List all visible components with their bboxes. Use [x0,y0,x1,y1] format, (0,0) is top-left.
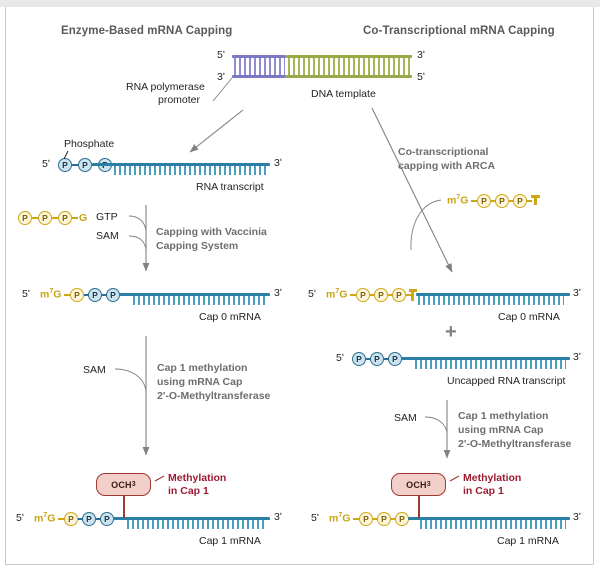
sam-reagent-label-step1: SAM [96,230,119,242]
right-arca-m7g-label: m7G [447,194,468,207]
right-uncapped-phosphate-1: P [352,352,366,366]
left-step2-label-line2: using mRNA Cap [157,376,242,390]
right-methylation-label-line2: in Cap 1 [463,485,504,498]
gtp-base-g: G [79,212,87,224]
dna-template-rungs [288,58,410,75]
left-cap0-caption: Cap 0 mRNA [199,311,261,323]
dna-template-label: DNA template [311,88,376,100]
left-cap0-phosphate-3: P [106,288,120,302]
right-arca-phosphate-2: P [495,194,509,208]
left-cap1-three-prime: 3ʹ [274,511,282,523]
right-uncapped-five-prime: 5ʹ [336,352,344,364]
dna-three-prime-bottom: 3ʹ [217,71,225,83]
gtp-phosphate-3: P [58,211,72,225]
gtp-phosphate-1: P [18,211,32,225]
right-cap0-terminus-stem-icon [411,289,414,301]
left-rna-phosphate-2: P [78,158,92,172]
gtp-reagent-label: GTP [96,211,118,223]
dna-five-prime-top: 5ʹ [217,49,225,61]
figure-canvas: Enzyme-Based mRNA Capping Co-Transcripti… [0,0,600,572]
right-cap1-three-prime: 3ʹ [573,511,581,523]
right-cap0-three-prime: 3ʹ [573,287,581,299]
right-cap0-phosphate-2: P [374,288,388,302]
right-cap1-five-prime: 5ʹ [311,512,319,524]
right-arca-label-line1: Co-transcriptional [398,146,488,160]
left-cap0-phosphate-1: P [70,288,84,302]
right-cap0-m7g-label: m7G [326,288,347,301]
right-cap1-caption: Cap 1 mRNA [497,535,559,547]
right-arca-phosphate-1: P [477,194,491,208]
right-methylation-label-line1: Methylation [463,472,521,485]
left-cap0-five-prime: 5ʹ [22,288,30,300]
left-cap1-five-prime: 5ʹ [16,512,24,524]
left-cap1-phosphate-2: P [82,512,96,526]
left-rna-transcript-caption: RNA transcript [196,181,264,193]
left-och3-badge: OCH3 [96,473,151,496]
right-uncapped-phosphate-3: P [388,352,402,366]
left-cap0-phosphate-2: P [88,288,102,302]
left-cap0-three-prime: 3ʹ [274,287,282,299]
left-cap0-m7g-label: m7G [40,288,61,301]
left-step1-label-line1: Capping with Vaccinia [156,226,267,240]
left-methylation-label-line1: Methylation [168,472,226,485]
dna-five-prime-bottom: 5ʹ [417,71,425,83]
right-cap0-caption: Cap 0 mRNA [498,311,560,323]
column-title-right: Co-Transcriptional mRNA Capping [363,25,555,37]
right-step2-label-line2: using mRNA Cap [458,424,543,438]
left-step2-label-line1: Cap 1 methylation [157,362,247,376]
right-och3-stem [418,495,420,518]
left-och3-stem [123,495,125,518]
column-title-left: Enzyme-Based mRNA Capping [61,25,232,37]
left-step2-sam-label: SAM [83,364,106,376]
left-methylation-label-line2: in Cap 1 [168,485,209,498]
left-rna-five-prime: 5ʹ [42,158,50,170]
right-cap0-phosphate-3: P [392,288,406,302]
right-cap1-phosphate-2: P [377,512,391,526]
left-rna-phosphate-1: P [58,158,72,172]
left-step1-label-line2: Capping System [156,240,238,254]
top-band [0,0,600,7]
rna-polymerase-promoter-label-line2: promoter [158,94,200,106]
left-step2-label-line3: 2ʹ-O-Methyltransferase [157,390,270,404]
right-uncapped-caption: Uncapped RNA transcript [447,375,565,387]
right-step2-label-line1: Cap 1 methylation [458,410,548,424]
left-cap1-phosphate-3: P [100,512,114,526]
right-uncapped-phosphate-2: P [370,352,384,366]
dna-promoter-bottom-strand [232,75,286,78]
right-cap0-five-prime: 5ʹ [308,288,316,300]
rna-polymerase-promoter-label-line1: RNA polymerase [126,81,205,93]
arca-terminus-stem-icon [534,195,537,205]
right-cap1-phosphate-1: P [359,512,373,526]
right-cap1-phosphate-3: P [395,512,409,526]
right-cap0-phosphate-1: P [356,288,370,302]
right-uncapped-three-prime: 3ʹ [573,351,581,363]
dna-template-bottom-strand [286,75,412,78]
right-och3-badge: OCH3 [391,473,446,496]
left-cap1-caption: Cap 1 mRNA [199,535,261,547]
right-arca-phosphate-3: P [513,194,527,208]
right-step2-sam-label: SAM [394,412,417,424]
right-arca-label-line2: capping with ARCA [398,160,495,174]
right-cap1-m7g-label: m7G [329,512,350,525]
plus-symbol: + [445,322,457,342]
gtp-connector-3 [72,217,78,219]
dna-promoter-rungs [234,58,285,75]
left-cap1-m7g-label: m7G [34,512,55,525]
left-rna-three-prime: 3ʹ [274,157,282,169]
right-arca-connector-3 [527,200,532,202]
right-step2-label-line3: 2ʹ-O-Methyltransferase [458,438,571,452]
dna-three-prime-top: 3ʹ [417,49,425,61]
phosphate-callout-label: Phosphate [64,138,114,150]
gtp-phosphate-2: P [38,211,52,225]
left-cap1-phosphate-1: P [64,512,78,526]
